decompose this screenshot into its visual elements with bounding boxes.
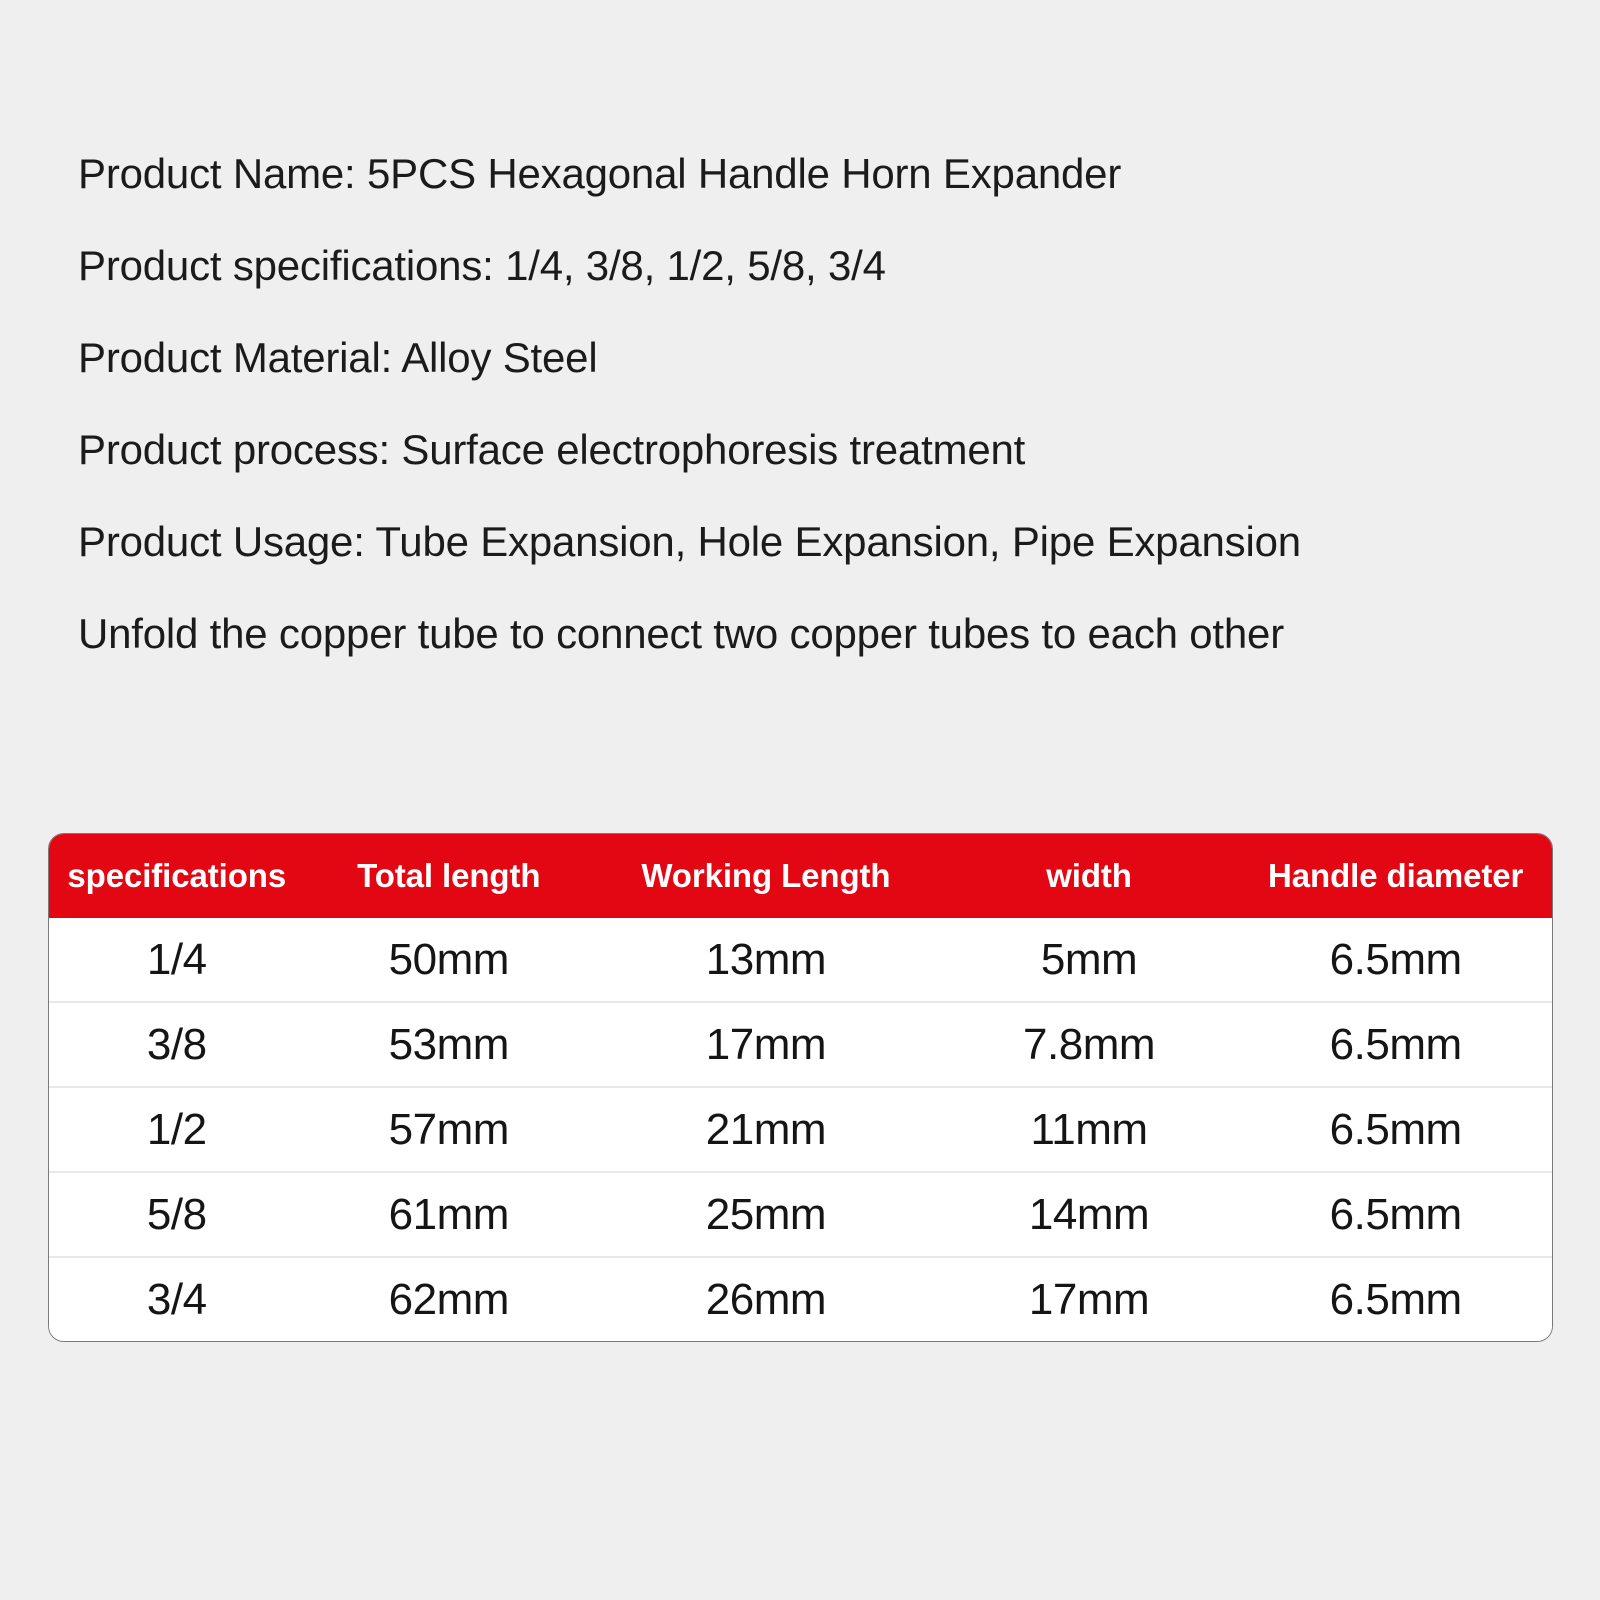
cell-working-length: 17mm	[593, 1002, 939, 1087]
cell-specifications: 3/4	[49, 1257, 305, 1341]
column-header-handle-diameter: Handle diameter	[1239, 834, 1552, 918]
cell-width: 11mm	[939, 1087, 1240, 1172]
column-header-specifications: specifications	[49, 834, 305, 918]
cell-specifications: 5/8	[49, 1172, 305, 1257]
specification-table: specifications Total length Working Leng…	[48, 833, 1553, 1342]
table-body: 1/4 50mm 13mm 5mm 6.5mm 3/8 53mm 17mm 7.…	[49, 918, 1552, 1341]
product-spec-page: Product Name: 5PCS Hexagonal Handle Horn…	[0, 0, 1600, 1600]
cell-width: 17mm	[939, 1257, 1240, 1341]
cell-working-length: 25mm	[593, 1172, 939, 1257]
cell-specifications: 3/8	[49, 1002, 305, 1087]
description-line-product-usage: Product Usage: Tube Expansion, Hole Expa…	[78, 496, 1558, 588]
description-line-product-material: Product Material: Alloy Steel	[78, 312, 1558, 404]
cell-working-length: 13mm	[593, 918, 939, 1002]
column-header-working-length: Working Length	[593, 834, 939, 918]
cell-working-length: 21mm	[593, 1087, 939, 1172]
cell-specifications: 1/4	[49, 918, 305, 1002]
cell-handle-diameter: 6.5mm	[1239, 918, 1552, 1002]
description-line-unfold-note: Unfold the copper tube to connect two co…	[78, 588, 1558, 680]
cell-width: 14mm	[939, 1172, 1240, 1257]
table-row: 3/8 53mm 17mm 7.8mm 6.5mm	[49, 1002, 1552, 1087]
cell-total-length: 53mm	[305, 1002, 594, 1087]
cell-total-length: 61mm	[305, 1172, 594, 1257]
cell-handle-diameter: 6.5mm	[1239, 1172, 1552, 1257]
product-description-block: Product Name: 5PCS Hexagonal Handle Horn…	[78, 128, 1558, 680]
description-line-product-process: Product process: Surface electrophoresis…	[78, 404, 1558, 496]
cell-total-length: 57mm	[305, 1087, 594, 1172]
cell-width: 7.8mm	[939, 1002, 1240, 1087]
table-header: specifications Total length Working Leng…	[49, 834, 1552, 918]
cell-handle-diameter: 6.5mm	[1239, 1002, 1552, 1087]
table-row: 3/4 62mm 26mm 17mm 6.5mm	[49, 1257, 1552, 1341]
table-header-row: specifications Total length Working Leng…	[49, 834, 1552, 918]
column-header-total-length: Total length	[305, 834, 594, 918]
description-line-product-specifications: Product specifications: 1/4, 3/8, 1/2, 5…	[78, 220, 1558, 312]
table-row: 1/2 57mm 21mm 11mm 6.5mm	[49, 1087, 1552, 1172]
cell-total-length: 62mm	[305, 1257, 594, 1341]
cell-width: 5mm	[939, 918, 1240, 1002]
cell-total-length: 50mm	[305, 918, 594, 1002]
cell-handle-diameter: 6.5mm	[1239, 1257, 1552, 1341]
column-header-width: width	[939, 834, 1240, 918]
description-line-product-name: Product Name: 5PCS Hexagonal Handle Horn…	[78, 128, 1558, 220]
cell-working-length: 26mm	[593, 1257, 939, 1341]
table-row: 1/4 50mm 13mm 5mm 6.5mm	[49, 918, 1552, 1002]
cell-specifications: 1/2	[49, 1087, 305, 1172]
cell-handle-diameter: 6.5mm	[1239, 1087, 1552, 1172]
table-row: 5/8 61mm 25mm 14mm 6.5mm	[49, 1172, 1552, 1257]
